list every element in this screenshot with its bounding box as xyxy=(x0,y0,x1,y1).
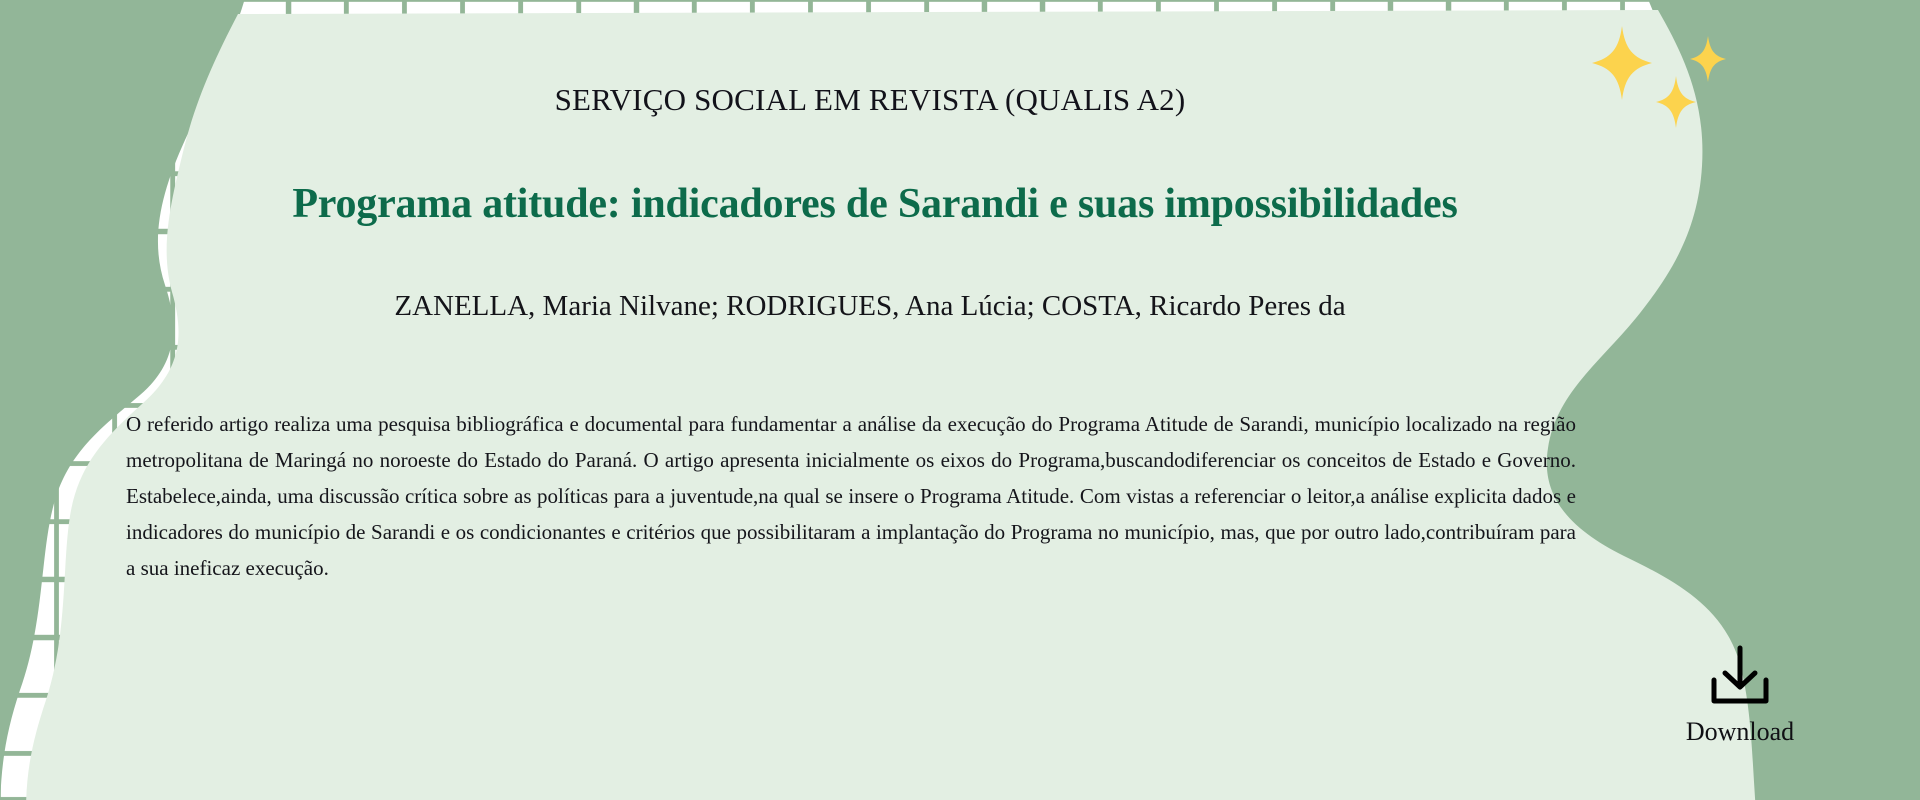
journal-name: SERVIÇO SOCIAL EM REVISTA (QUALIS A2) xyxy=(60,82,1680,118)
download-button[interactable]: Download xyxy=(1640,645,1840,745)
article-abstract: O referido artigo realiza uma pesquisa b… xyxy=(126,406,1576,586)
article-content: SERVIÇO SOCIAL EM REVISTA (QUALIS A2) Pr… xyxy=(0,0,1920,800)
download-label[interactable]: Download xyxy=(1640,719,1840,745)
page-title: Programa atitude: indicadores de Sarandi… xyxy=(230,180,1520,229)
article-authors: ZANELLA, Maria Nilvane; RODRIGUES, Ana L… xyxy=(130,289,1610,324)
download-tray-icon[interactable] xyxy=(1705,645,1775,707)
poster-canvas: SERVIÇO SOCIAL EM REVISTA (QUALIS A2) Pr… xyxy=(0,0,1920,800)
